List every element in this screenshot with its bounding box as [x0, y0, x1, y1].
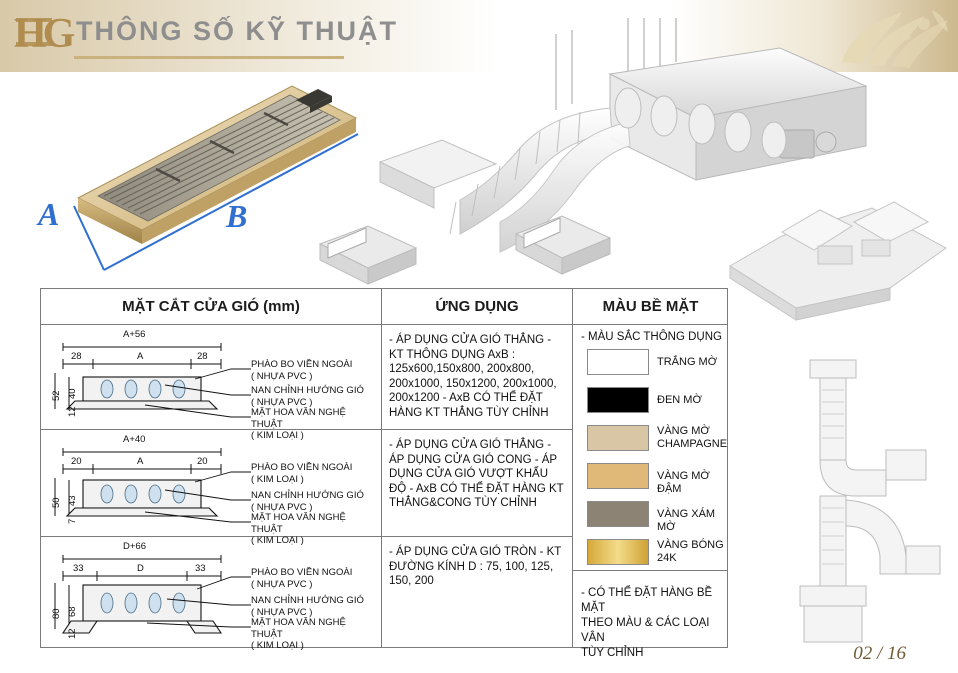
color-swatch-vang-mo-champagne — [587, 425, 649, 451]
duct-riser-3d-render — [780, 350, 950, 650]
dim-7-2: 7 — [67, 519, 78, 524]
column-header-surface: MÀU BỀ MẶT — [573, 289, 728, 325]
dim-d-3: D — [137, 563, 144, 574]
column-header-section: MẶT CẮT CỬA GIÓ (mm) — [41, 289, 381, 325]
spec-table: MẶT CẮT CỬA GIÓ (mm) ỨNG DỤNG MÀU BỀ MẶT — [40, 288, 728, 648]
dimension-label-a: A — [38, 196, 59, 233]
color-swatch-vang-bong-24k — [587, 539, 649, 565]
color-swatch-vang-mo-dam — [587, 463, 649, 489]
dim-28-right-1: 28 — [197, 351, 208, 362]
color-swatch-den-mo — [587, 387, 649, 413]
dim-a-1: A — [137, 351, 143, 362]
dim-33-right-3: 33 — [195, 563, 206, 574]
color-label-trang-mo: TRẮNG MỜ — [657, 356, 717, 369]
color-label-vang-mo-champagne: VÀNG MỜ CHAMPAGNE — [657, 425, 727, 451]
dim-12-3: 12 — [67, 628, 78, 639]
color-label-vang-bong-24k: VÀNG BÓNG 24K — [657, 539, 724, 565]
dim-40-1: 40 — [67, 388, 78, 399]
section-drawing-1: A+56 28 A 28 52 40 12 PHÀO BO VIỀN NGOÀI… — [45, 325, 377, 429]
dim-80-3: 80 — [51, 608, 62, 619]
column-header-application: ỨNG DỤNG — [382, 289, 572, 325]
application-text-1: - ÁP DỤNG CỬA GIÓ THẲNG - KT THÔNG DỤNG … — [389, 333, 567, 420]
dim-43-2: 43 — [67, 495, 78, 506]
callout-1-2: NAN CHỈNH HƯỚNG GIÓ ( NHỰA PVC ) — [251, 385, 364, 408]
callout-2-2: NAN CHỈNH HƯỚNG GIÓ ( NHỰA PVC ) — [251, 490, 364, 513]
color-label-vang-xam-mo: VÀNG XÁM MỜ — [657, 508, 727, 534]
dim-28-left-1: 28 — [71, 351, 82, 362]
color-section-heading: - MÀU SẮC THÔNG DỤNG — [581, 331, 722, 343]
callout-2-1: PHÀO BO VIỀN NGOÀI ( KIM LOẠI ) — [251, 462, 352, 485]
color-label-vang-mo-dam: VÀNG MỜ ĐẬM — [657, 470, 727, 496]
brand-logo: HG — [14, 8, 68, 60]
application-text-2: - ÁP DỤNG CỬA GIÓ THẲNG - ÁP DỤNG CỬA GI… — [389, 438, 567, 511]
title-underline — [74, 56, 344, 59]
page-number: 02 / 16 — [853, 643, 906, 665]
table-header-row: MẶT CẮT CỬA GIÓ (mm) ỨNG DỤNG MÀU BỀ MẶT — [41, 289, 727, 325]
logo-bar-top — [16, 18, 52, 22]
callout-3-2: NAN CHỈNH HƯỚNG GIÓ ( NHỰA PVC ) — [251, 595, 364, 618]
callout-1-1: PHÀO BO VIỀN NGOÀI ( NHỰA PVC ) — [251, 359, 352, 382]
dim-68-3: 68 — [67, 606, 78, 617]
color-custom-note: - CÓ THỂ ĐẶT HÀNG BỀ MẶT THEO MÀU & CÁC … — [581, 586, 727, 661]
section-drawing-3: D+66 33 D 33 80 68 12 PHÀO BO VIỀN NGOÀI… — [45, 537, 377, 647]
dim-a-2: A — [137, 456, 143, 467]
dimension-label-b: B — [226, 198, 247, 235]
dim-20-right-2: 20 — [197, 456, 208, 467]
color-label-den-mo: ĐEN MỜ — [657, 394, 702, 407]
color-swatch-vang-xam-mo — [587, 501, 649, 527]
dim-top-2: A+40 — [123, 434, 145, 445]
dim-20-left-2: 20 — [71, 456, 82, 467]
dim-33-left-3: 33 — [73, 563, 84, 574]
section-drawing-2: A+40 20 A 20 50 43 7 PHÀO BO VIỀN NGOÀI … — [45, 430, 377, 536]
callout-3-1: PHÀO BO VIỀN NGOÀI ( NHỰA PVC ) — [251, 567, 352, 590]
callout-3-3: MẶT HOA VĂN NGHỆ THUẬT ( KIM LOẠI ) — [251, 617, 377, 652]
dim-top-3: D+66 — [123, 541, 146, 552]
application-text-3: - ÁP DỤNG CỬA GIÓ TRÒN - KT ĐƯỜNG KÍNH D… — [389, 545, 567, 589]
room-layout-3d-render — [722, 196, 952, 326]
dim-top-1: A+56 — [123, 329, 145, 340]
dim-50-2: 50 — [51, 497, 62, 508]
color-swatch-trang-mo — [587, 349, 649, 375]
logo-bar-bottom — [16, 42, 52, 46]
dim-12-1: 12 — [67, 406, 78, 417]
dim-52-1: 52 — [51, 390, 62, 401]
